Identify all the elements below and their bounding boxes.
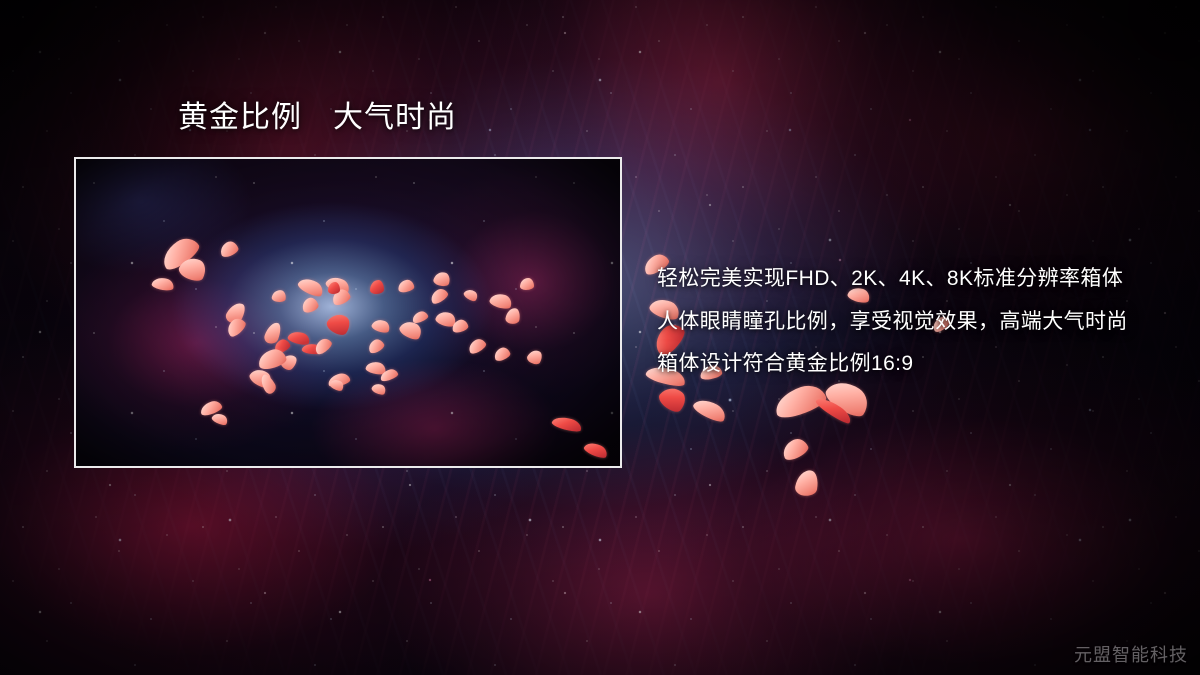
body-line-2: 人体眼睛瞳孔比例，享受视觉效果，高端大气时尚 bbox=[657, 301, 1177, 344]
framed-preview-image bbox=[74, 157, 622, 468]
body-text-block: 轻松完美实现FHD、2K、4K、8K标准分辨率箱体 人体眼睛瞳孔比例，享受视觉效… bbox=[657, 258, 1177, 386]
company-watermark: 元盟智能科技 bbox=[1074, 641, 1188, 667]
flower-petal bbox=[779, 435, 810, 462]
framed-image-vignette bbox=[76, 159, 620, 466]
slide-title: 黄金比例 大气时尚 bbox=[178, 101, 457, 136]
flower-petal bbox=[814, 394, 854, 426]
flower-petal bbox=[691, 395, 729, 425]
presentation-slide: 黄金比例 大气时尚 轻松完美实现FHD、2K、4K、8K标准分辨率箱体 人体眼睛… bbox=[0, 0, 1200, 675]
body-line-1: 轻松完美实现FHD、2K、4K、8K标准分辨率箱体 bbox=[657, 258, 1177, 301]
flower-petal bbox=[656, 382, 690, 416]
body-line-3: 箱体设计符合黄金比例16:9 bbox=[657, 343, 1177, 386]
flower-petal bbox=[794, 468, 820, 497]
flower-petal bbox=[771, 381, 828, 422]
